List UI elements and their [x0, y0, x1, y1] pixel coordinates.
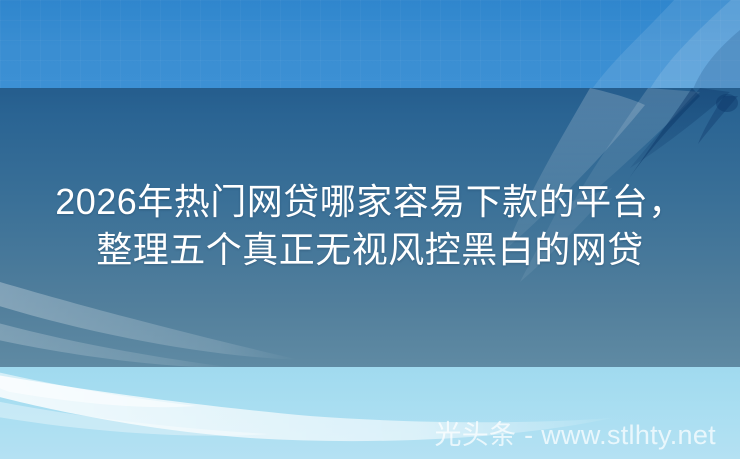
banner-title: 2026年热门网贷哪家容易下款的平台， 整理五个真正无视风控黑白的网贷 [0, 178, 740, 274]
title-line-1: 2026年热门网贷哪家容易下款的平台， [0, 178, 740, 226]
title-line-2: 整理五个真正无视风控黑白的网贷 [0, 226, 740, 274]
article-banner: 2026年热门网贷哪家容易下款的平台， 整理五个真正无视风控黑白的网贷 光头条 … [0, 0, 740, 459]
background-band-top [0, 0, 740, 88]
site-watermark: 光头条 - www.stlhty.net [434, 420, 716, 450]
